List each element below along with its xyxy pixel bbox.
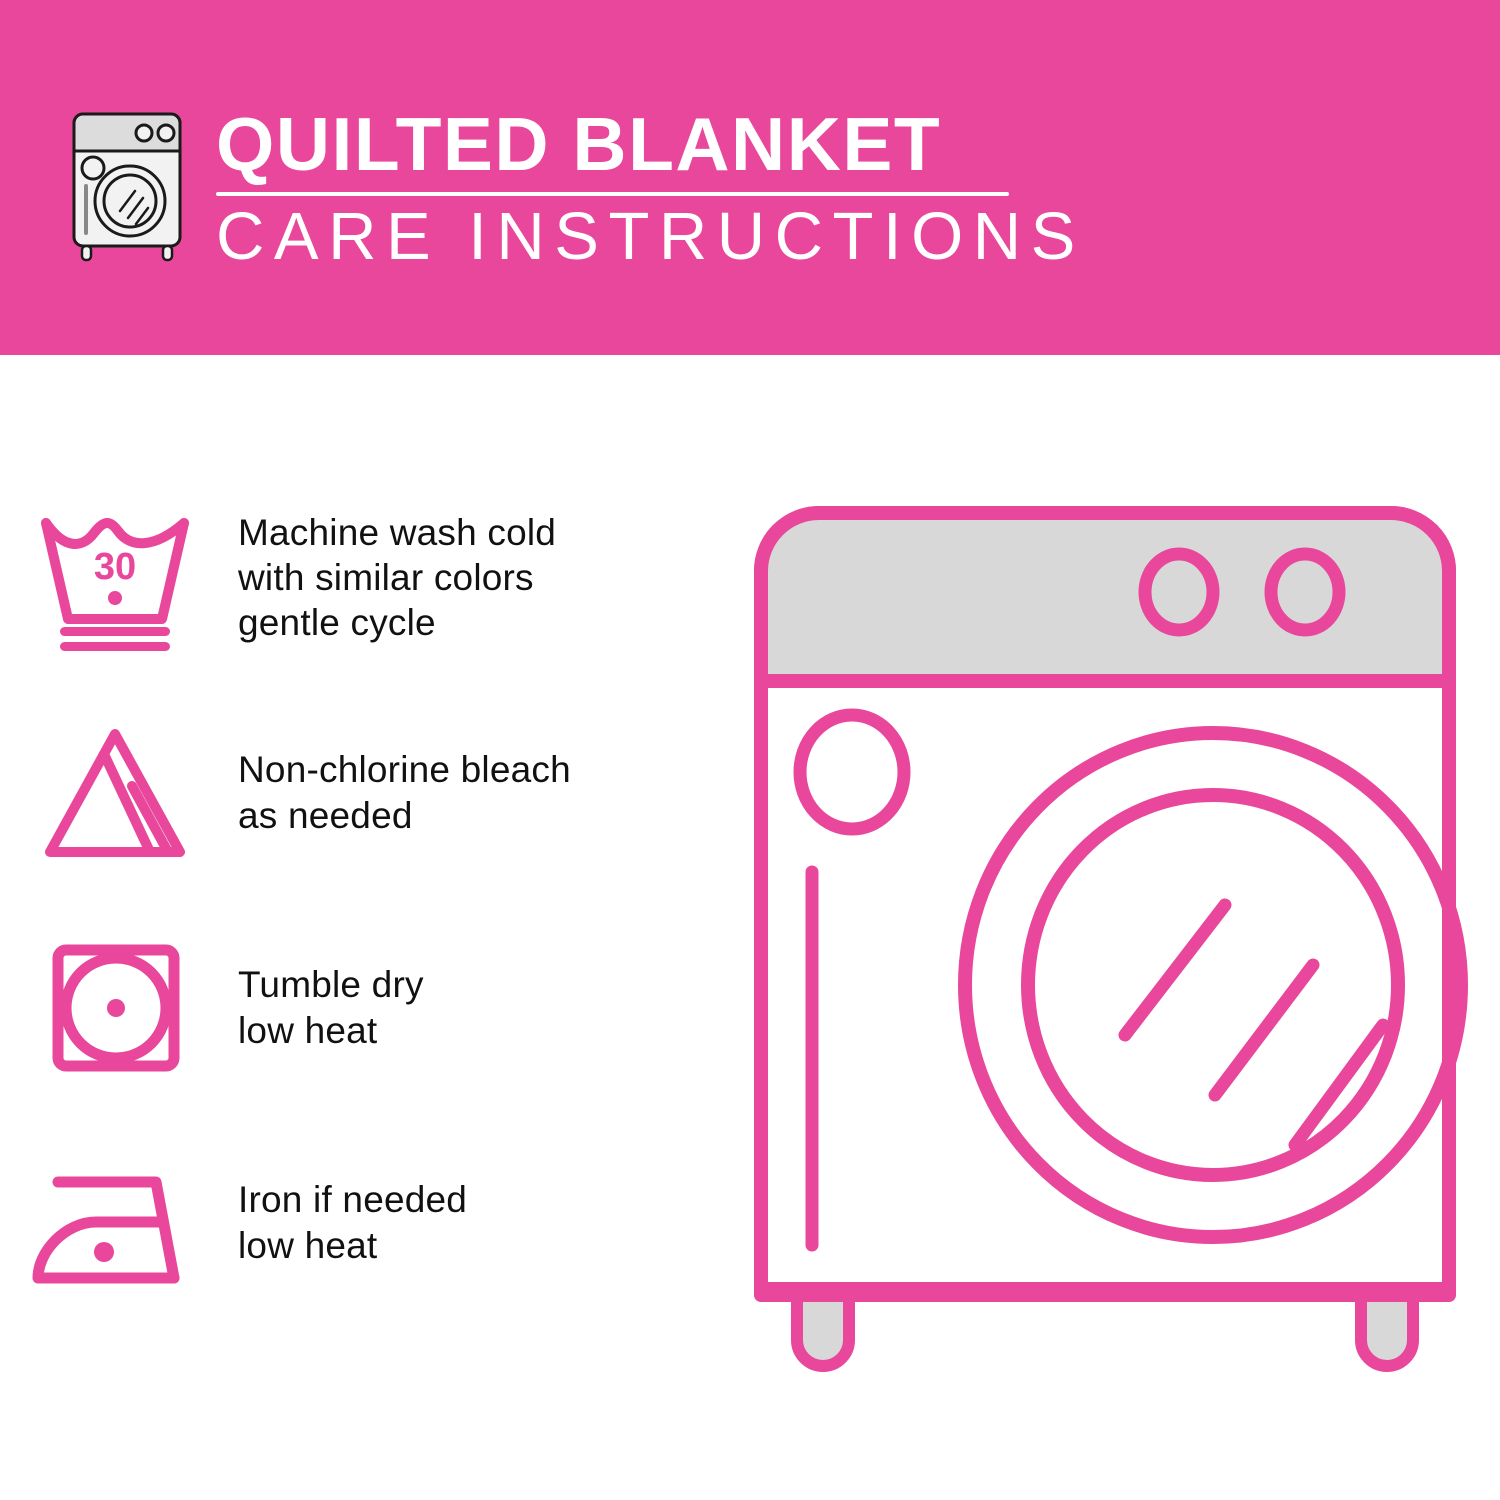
wash-tub-30-gentle-icon: 30 (0, 488, 230, 668)
washing-machine-icon (62, 108, 192, 263)
care-text-line: Iron if needed (238, 1177, 467, 1222)
tumble-dry-low-heat-icon (0, 918, 230, 1098)
care-row-bleach: Non-chlorine bleach as needed (0, 685, 720, 900)
care-text-iron: Iron if needed low heat (230, 1177, 467, 1267)
care-text-line: low heat (238, 1008, 424, 1053)
care-text-line: Non-chlorine bleach (238, 747, 571, 792)
care-instructions-infographic: QUILTED BLANKET CARE INSTRUCTIONS 30 (0, 0, 1500, 1500)
care-text-line: Tumble dry (238, 962, 424, 1007)
care-row-wash: 30 Machine wash cold with similar colors… (0, 470, 720, 685)
care-text-line: as needed (238, 793, 571, 838)
front-load-washing-machine-illustration (735, 485, 1475, 1435)
page-subtitle: CARE INSTRUCTIONS (216, 202, 1016, 272)
header-text-block: QUILTED BLANKET CARE INSTRUCTIONS (216, 105, 1016, 272)
care-text-tumble-dry: Tumble dry low heat (230, 962, 424, 1052)
care-text-line: Machine wash cold (238, 510, 556, 555)
care-row-tumble-dry: Tumble dry low heat (0, 900, 720, 1115)
care-text-line: low heat (238, 1223, 467, 1268)
iron-low-heat-icon (0, 1133, 230, 1313)
title-divider (216, 192, 1009, 196)
page-title: QUILTED BLANKET (216, 105, 1016, 184)
care-instruction-list: 30 Machine wash cold with similar colors… (0, 470, 720, 1330)
care-text-bleach: Non-chlorine bleach as needed (230, 747, 571, 837)
wash-temperature-value: 30 (94, 546, 136, 588)
non-chlorine-bleach-triangle-icon (0, 703, 230, 883)
care-text-line: with similar colors (238, 555, 556, 600)
care-text-wash: Machine wash cold with similar colors ge… (230, 510, 556, 645)
header-banner: QUILTED BLANKET CARE INSTRUCTIONS (0, 0, 1500, 355)
care-text-line: gentle cycle (238, 600, 556, 645)
care-row-iron: Iron if needed low heat (0, 1115, 720, 1330)
